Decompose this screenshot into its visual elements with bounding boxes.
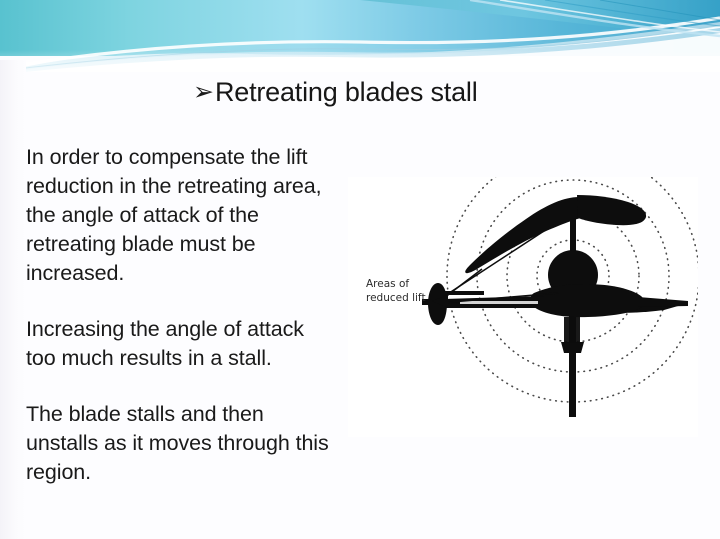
rotor-mast-collar	[567, 201, 579, 206]
rotor-disc-graphic: Areas of reduced lift	[348, 177, 698, 437]
rotor-blade-aft-tip	[561, 342, 584, 353]
triangle-bullet-icon: ➢	[193, 80, 214, 105]
slide-canvas: ➢ Retreating blades stall In order to co…	[0, 0, 720, 539]
left-margin-wash	[0, 60, 26, 539]
callout-label-line-1: Areas of	[366, 278, 409, 290]
page-title-text: Retreating blades stall	[215, 77, 478, 108]
tail-boom-stripe	[460, 301, 538, 304]
body-paragraph-1: In order to compensate the lift reductio…	[26, 143, 332, 288]
callout-label-line-2: reduced lift	[366, 292, 426, 304]
wave-banner-graphic	[0, 0, 720, 72]
rotor-mast-upper	[570, 199, 576, 251]
body-paragraph-3: The blade stalls and then unstalls as it…	[26, 400, 332, 487]
body-paragraph-2: Increasing the angle of attack too much …	[26, 315, 332, 373]
body-text-column: In order to compensate the lift reductio…	[26, 143, 332, 487]
landing-skid	[564, 317, 580, 343]
page-title: ➢ Retreating blades stall	[193, 77, 478, 108]
helicopter-rotor-disc-diagram: Areas of reduced lift	[348, 177, 698, 437]
decorative-wave-banner	[0, 0, 720, 72]
